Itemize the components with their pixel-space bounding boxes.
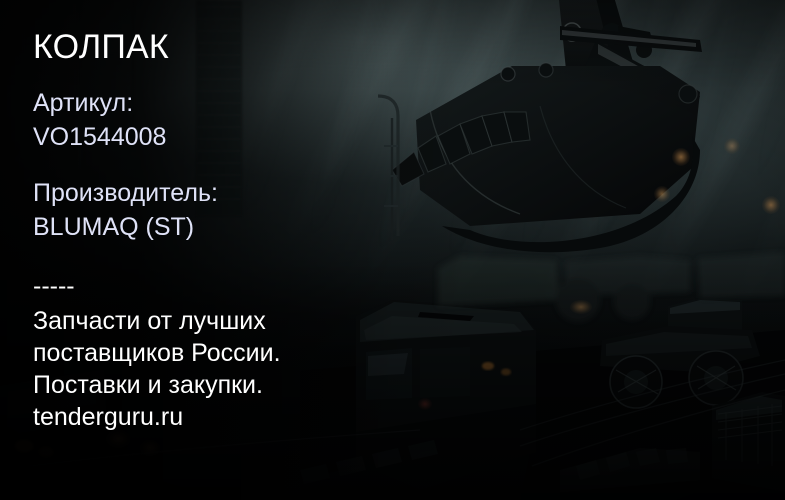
page-title: КОЛПАК — [33, 30, 169, 64]
field-article-label: Артикул: — [33, 89, 133, 117]
field-manufacturer: Производитель: BLUMAQ (ST) — [33, 176, 218, 244]
field-article-value: VO1544008 — [33, 120, 166, 154]
field-manufacturer-label: Производитель: — [33, 179, 218, 207]
tagline-line: Поставки и закупки. — [33, 369, 363, 401]
tagline-line: Запчасти от лучших — [33, 305, 363, 337]
separator-dashes: ----- — [33, 272, 75, 300]
excavator-bucket-icon — [392, 0, 702, 252]
field-article: Артикул: VO1544008 — [33, 86, 166, 154]
field-manufacturer-value: BLUMAQ (ST) — [33, 210, 218, 244]
tagline: Запчасти от лучших поставщиков России. П… — [33, 305, 363, 433]
site-url: tenderguru.ru — [33, 401, 363, 433]
tagline-line: поставщиков России. — [33, 337, 363, 369]
product-banner: КОЛПАК Артикул: VO1544008 Производитель:… — [0, 0, 785, 500]
